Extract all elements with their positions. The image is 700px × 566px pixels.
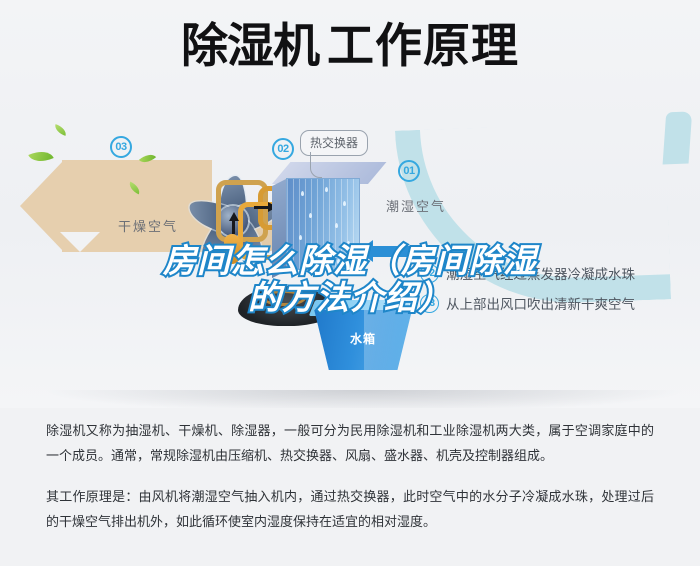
overlay-title-line-2: 的方法介绍） [0,280,700,317]
dry-air-label: 干燥空气 [118,216,178,235]
page-title-part-b: 工作原理 [327,19,519,72]
body-paragraph-2: 其工作原理是：由风机将潮湿空气抽入机内，通过热交换器，此时空气中的水分子冷凝成水… [46,484,654,534]
body-paragraph-1: 除湿机又称为抽湿机、干燥机、除湿器，一般可分为民用除湿机和工业除湿机两大类，属于… [46,418,654,468]
overlay-title-line-1: 房间怎么除湿（房间除湿 [0,243,700,280]
callout-tail-icon [310,152,322,178]
page-title-part-a: 除湿机 [181,19,319,72]
humid-air-label: 潮湿空气 [386,196,446,215]
page-root: 除湿机工作原理 干燥空气 [0,0,700,566]
overlay-title: 房间怎么除湿（房间除湿 的方法介绍） [0,243,700,317]
badge-01: 01 [398,160,420,182]
badge-03: 03 [110,136,132,158]
water-tank-label: 水箱 [350,330,376,347]
badge-02: 02 [272,138,294,160]
page-title: 除湿机工作原理 [0,22,700,69]
infographic-banner: 除湿机工作原理 干燥空气 [0,0,700,408]
leaf-icon [53,124,68,136]
article-body: 除湿机又称为抽湿机、干燥机、除湿器，一般可分为民用除湿机和工业除湿机两大类，属于… [0,418,700,534]
